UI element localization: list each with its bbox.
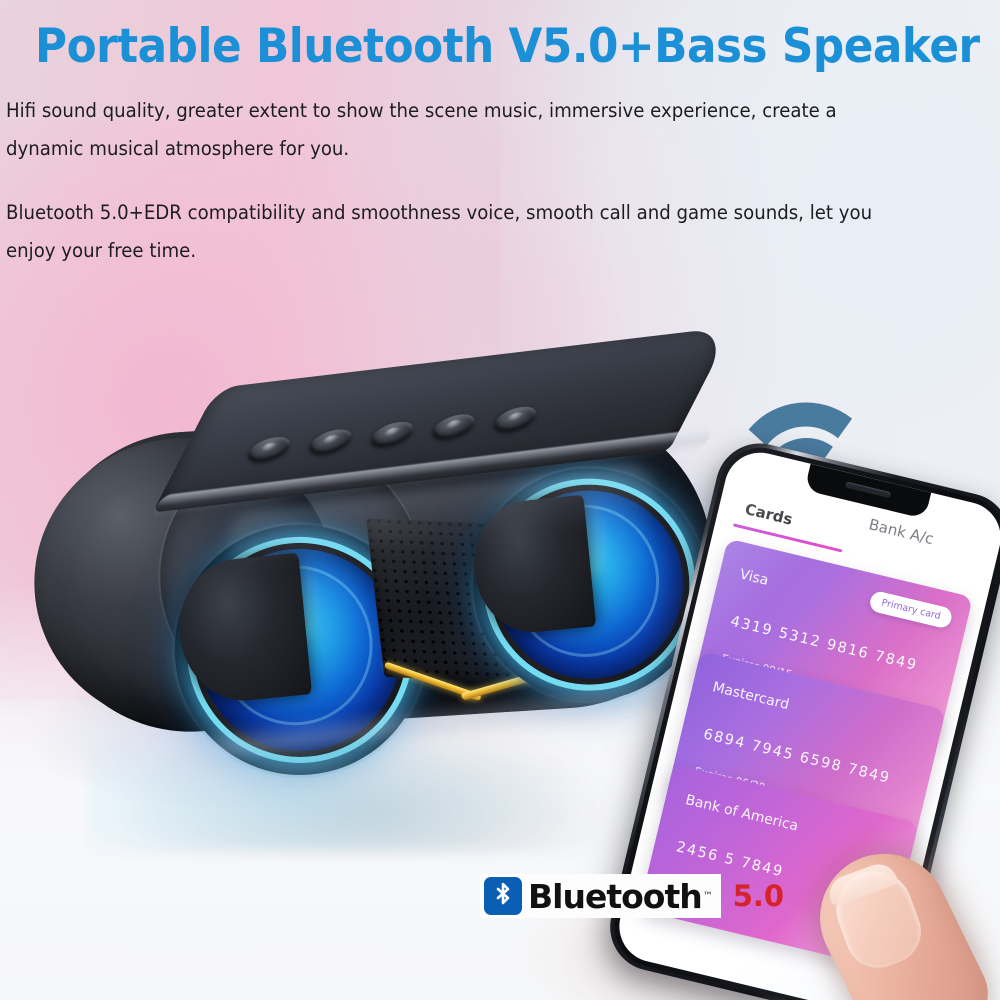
card-brand-label: Bank of America — [684, 792, 800, 834]
speaker-body — [31, 399, 721, 741]
speaker-button-4[interactable] — [428, 412, 479, 440]
description-paragraph-2: Bluetooth 5.0+EDR compatibility and smoo… — [6, 194, 917, 270]
bluetooth-logo-plate: Bluetooth ™ — [480, 874, 721, 918]
bluetooth-version: 5.0 — [733, 882, 784, 911]
bluetooth-badge: Bluetooth ™ 5.0 — [480, 872, 784, 920]
card-brand-label: Visa — [738, 566, 770, 588]
trademark-symbol: ™ — [703, 891, 713, 902]
button-3-nub — [383, 427, 401, 437]
product-marketing-image: Portable Bluetooth V5.0+Bass Speaker Hif… — [0, 0, 1000, 1000]
bluetooth-speaker-product — [40, 360, 740, 760]
speaker-surface-reflection — [88, 702, 648, 852]
speaker-button-3[interactable] — [367, 420, 418, 448]
speaker-button-5[interactable] — [490, 405, 541, 433]
bluetooth-rune-icon — [484, 877, 522, 915]
earpiece-speaker-icon — [845, 482, 891, 499]
tab-bank-account[interactable]: Bank A/c — [867, 515, 935, 548]
tab-cards[interactable]: Cards — [743, 500, 794, 529]
page-title: Portable Bluetooth V5.0+Bass Speaker — [35, 22, 965, 71]
button-2-nub — [322, 434, 340, 444]
description-paragraph-1: Hifi sound quality, greater extent to sh… — [6, 92, 917, 168]
bluetooth-wordmark: Bluetooth — [528, 880, 702, 913]
speaker-button-2[interactable] — [305, 427, 356, 455]
button-5-nub — [507, 412, 525, 422]
button-4-nub — [445, 419, 463, 429]
primary-card-badge: Primary card — [868, 590, 953, 630]
card-brand-label: Mastercard — [711, 679, 791, 713]
button-1-nub — [260, 442, 278, 452]
